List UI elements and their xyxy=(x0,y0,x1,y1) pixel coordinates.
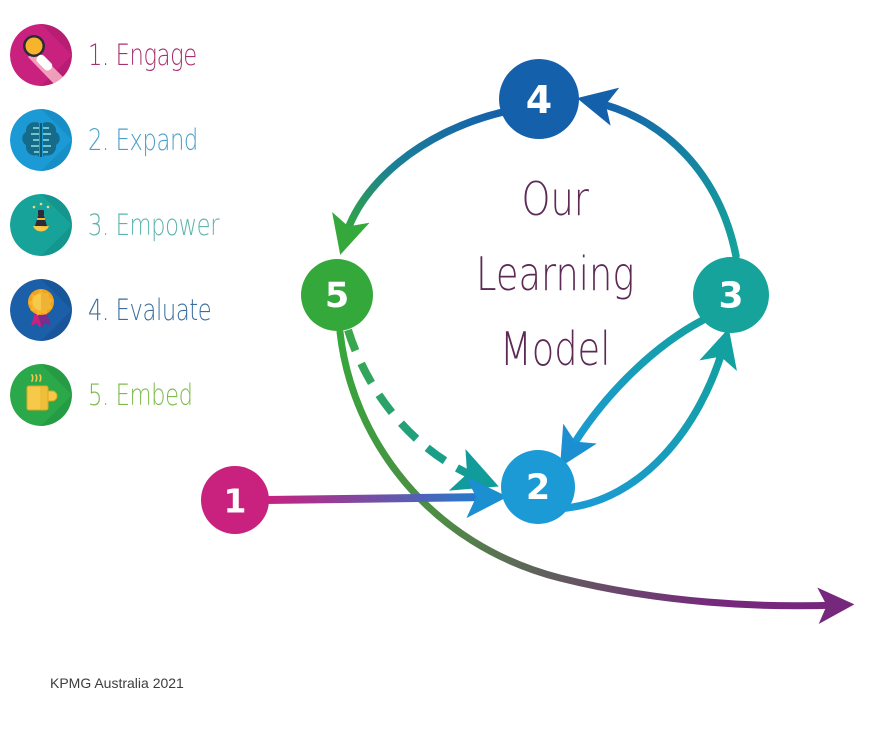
arrow-4-to-5 xyxy=(345,112,503,238)
node-2-label: 2 xyxy=(526,468,550,508)
center-title-line-3: Model xyxy=(500,322,610,376)
magnifying-glass-icon xyxy=(10,24,72,86)
legend-item-label: 3. Empower xyxy=(88,208,219,242)
legend-item-engage[interactable]: 1. Engage xyxy=(8,12,268,97)
legend-item-empower[interactable]: 3. Empower xyxy=(8,182,268,267)
node-4[interactable]: 4 xyxy=(499,59,579,139)
center-title: Our Learning Model xyxy=(476,172,634,376)
node-5-label: 5 xyxy=(325,276,349,316)
node-3[interactable]: 3 xyxy=(693,257,769,333)
legend-item-label: 2. Expand xyxy=(88,123,198,157)
node-5[interactable]: 5 xyxy=(301,259,373,331)
brain-icon xyxy=(10,109,72,171)
legend-item-expand[interactable]: 2. Expand xyxy=(8,97,268,182)
arrow-3-to-4 xyxy=(594,102,736,256)
legend-item-label: 5. Embed xyxy=(88,378,193,412)
coffee-mug-icon xyxy=(10,364,72,426)
node-2[interactable]: 2 xyxy=(501,450,575,524)
node-1-label: 1 xyxy=(224,482,247,521)
arrow-3-to-2 xyxy=(569,320,703,452)
arrow-1-to-2 xyxy=(266,497,489,500)
lightbulb-icon xyxy=(10,194,72,256)
node-4-label: 4 xyxy=(526,78,552,122)
award-ribbon-icon xyxy=(10,279,72,341)
node-3-label: 3 xyxy=(718,276,743,317)
footer-attribution: KPMG Australia 2021 xyxy=(50,675,184,691)
node-1[interactable]: 1 xyxy=(201,466,269,534)
legend-item-label: 4. Evaluate xyxy=(88,293,211,327)
legend-item-label: 1. Engage xyxy=(88,38,197,72)
legend-item-evaluate[interactable]: 4. Evaluate xyxy=(8,267,268,352)
center-title-line-2: Learning xyxy=(476,247,634,301)
arrow-2-to-3 xyxy=(566,345,724,508)
legend-list: 1. Engage 2. Expand xyxy=(8,12,268,437)
arrow-5-to-2-dashed xyxy=(348,330,480,479)
diagram-canvas: 1. Engage 2. Expand xyxy=(0,0,875,740)
arrow-5-to-outward xyxy=(340,332,838,606)
legend-item-embed[interactable]: 5. Embed xyxy=(8,352,268,437)
center-title-line-1: Our xyxy=(521,172,589,226)
